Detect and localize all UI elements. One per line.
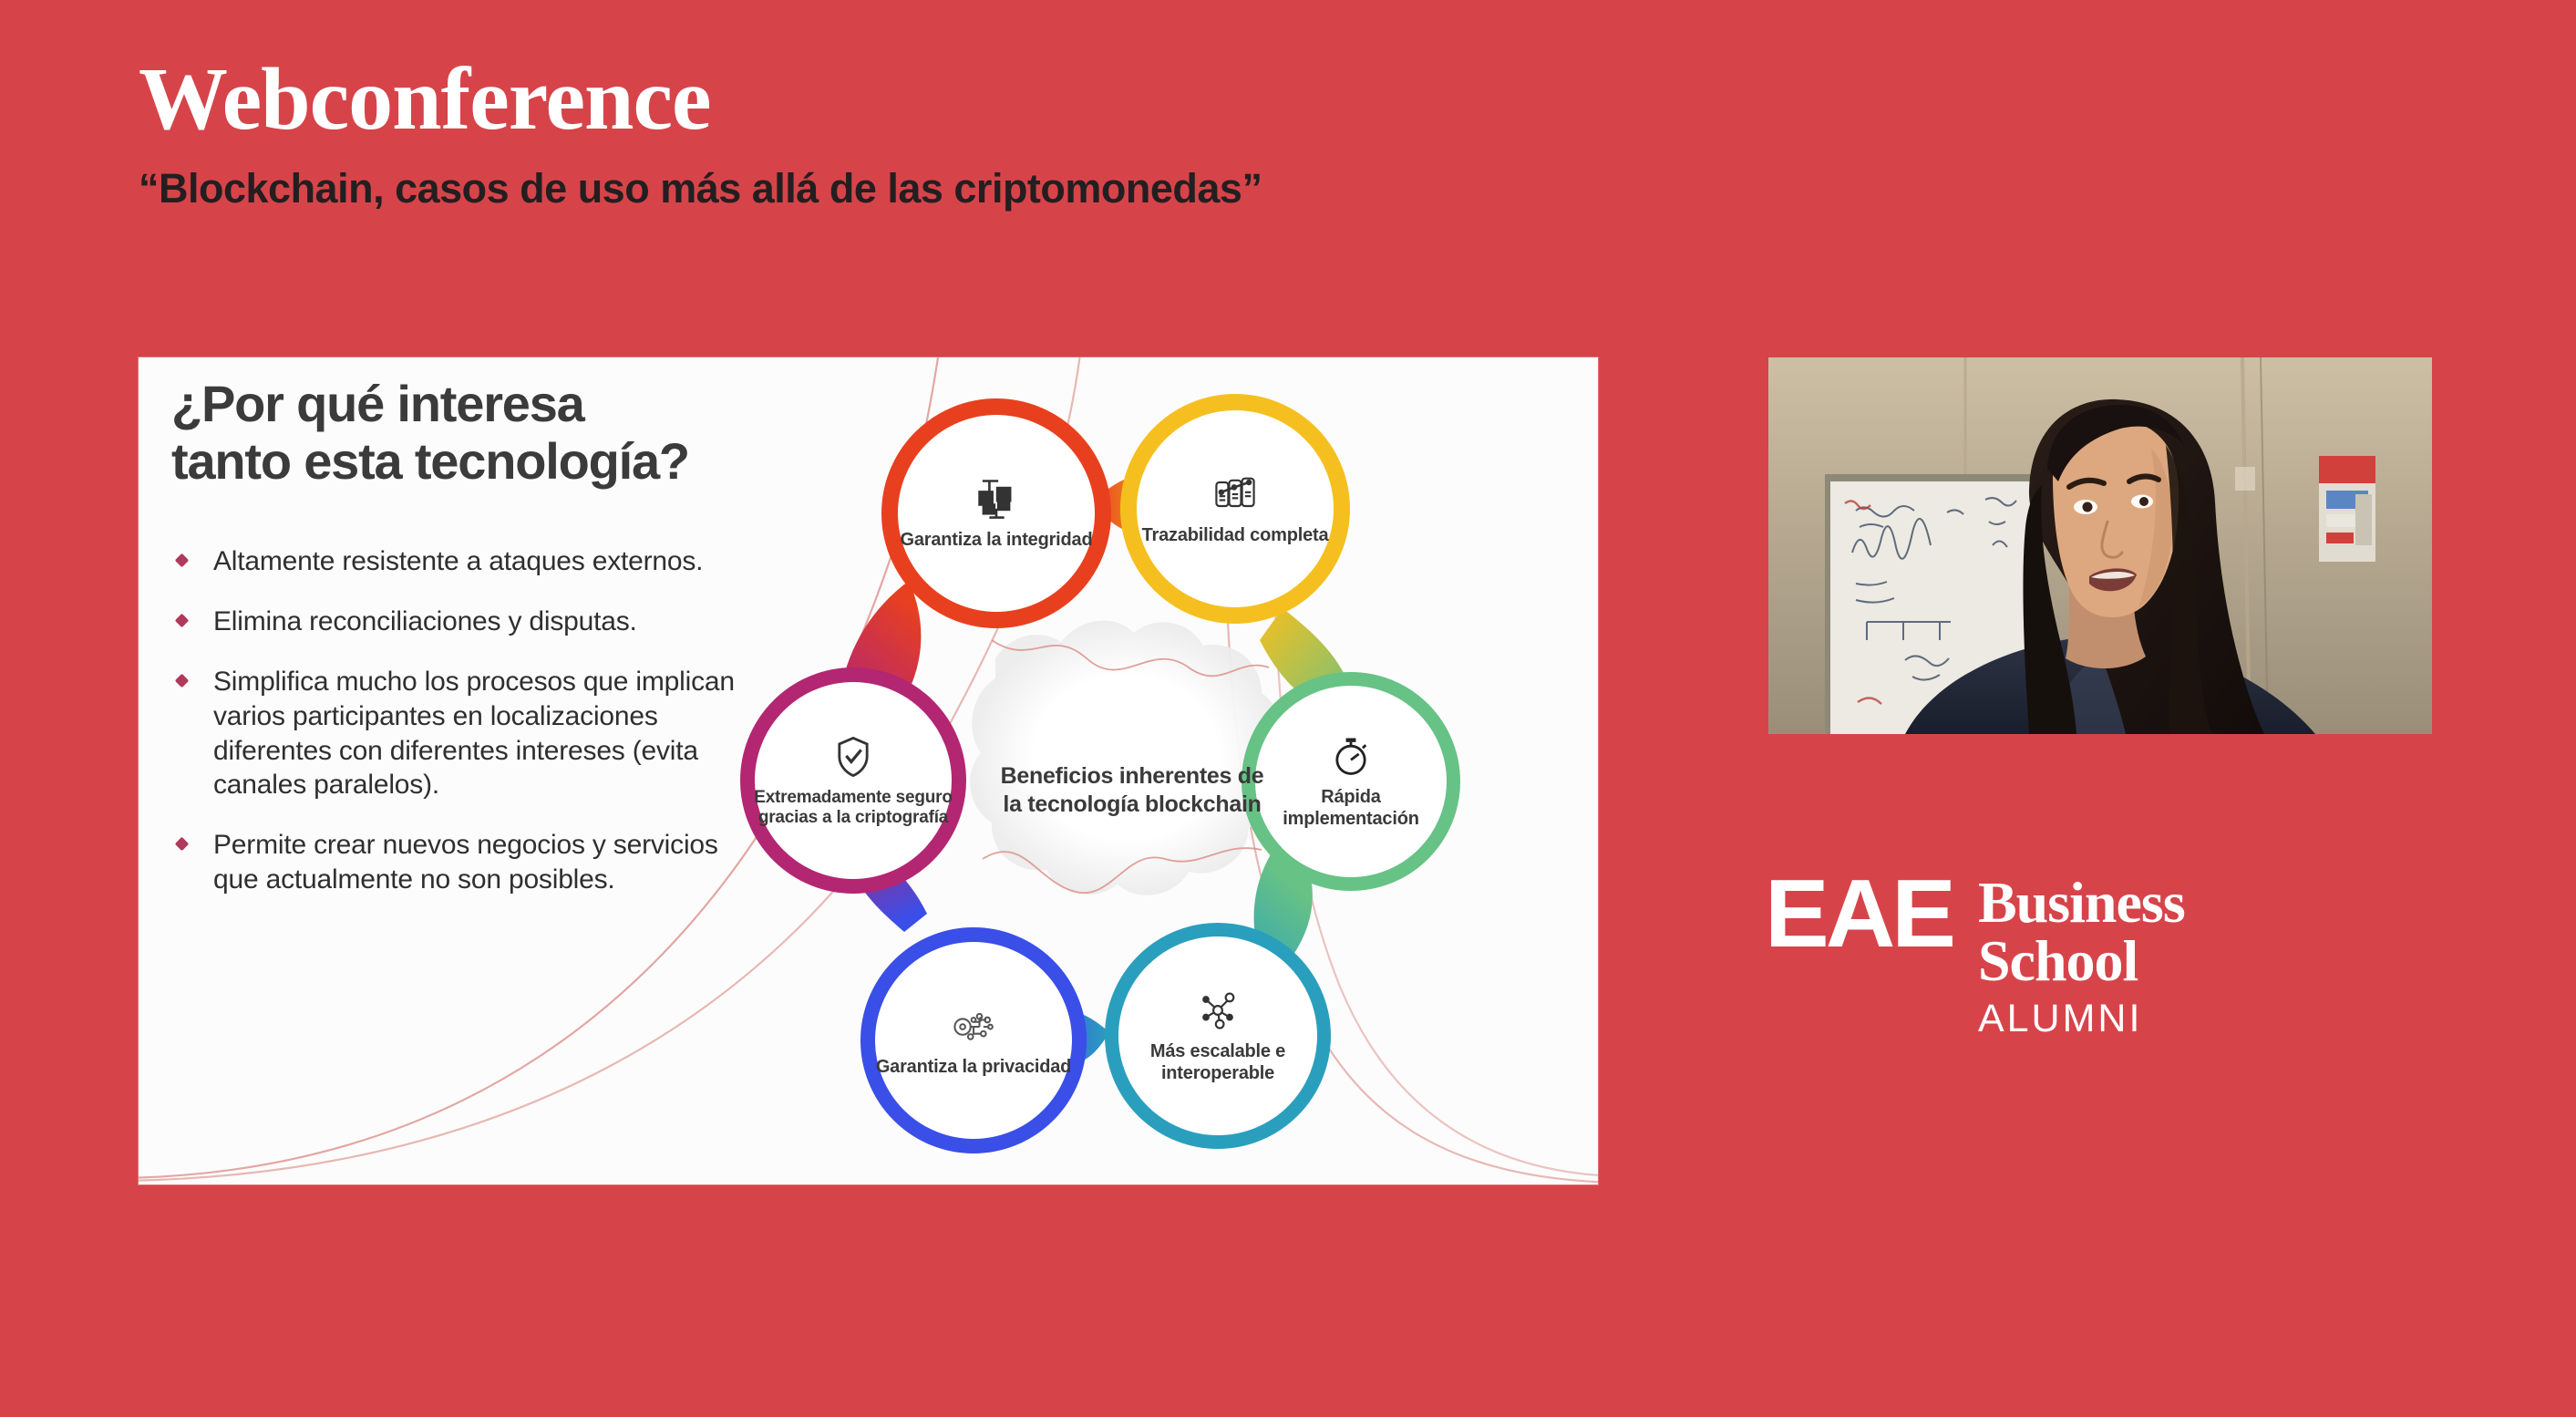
page-title: Webconference — [139, 55, 1688, 144]
eae-logo: EAE Business School ALUMNI — [1765, 868, 2185, 1039]
list-item: Elimina reconciliaciones y disputas. — [171, 605, 755, 639]
slide-bullet-list: Altamente resistente a ataques externos.… — [171, 544, 755, 896]
list-item: Altamente resistente a ataques externos. — [171, 544, 755, 579]
diagram-center-label: Beneficios inherentes de la tecnología b… — [995, 695, 1269, 886]
node-label: Garantiza la privacidad — [865, 1057, 1082, 1079]
diagram-node-rapida[interactable]: Rápida implementación — [1242, 672, 1460, 891]
diagram-node-privacidad[interactable]: Garantiza la privacidad — [860, 927, 1087, 1153]
center-label-text: Beneficios inherentes de la tecnología b… — [995, 762, 1269, 820]
slide-heading: ¿Por qué interesa tanto esta tecnología? — [171, 376, 755, 490]
eae-line-school: School — [1978, 932, 2185, 990]
node-label: Rápida implementación — [1242, 787, 1460, 830]
video-participant-tile[interactable] — [1768, 357, 2432, 734]
list-item-text: Altamente resistente a ataques externos. — [213, 546, 703, 576]
presentation-slide[interactable]: ¿Por qué interesa tanto esta tecnología?… — [139, 357, 1598, 1184]
eae-logo-text: Business School ALUMNI — [1978, 868, 2185, 1039]
list-item-text: Elimina reconciliaciones y disputas. — [213, 606, 637, 636]
documents-chart-icon — [1211, 471, 1259, 518]
video-frame — [1768, 357, 2432, 734]
benefits-circle-diagram: Garantiza la integridad — [722, 367, 1579, 1178]
slide-text-column: ¿Por qué interesa tanto esta tecnología?… — [171, 376, 755, 923]
list-item-text: Simplifica mucho los procesos que implic… — [213, 667, 735, 800]
diagram-node-integridad[interactable]: Garantiza la integridad — [881, 398, 1111, 628]
diagram-node-trazabilidad[interactable]: Trazabilidad completa — [1120, 394, 1350, 624]
eae-line-alumni: ALUMNI — [1978, 999, 2185, 1039]
node-content: Garantiza la integridad — [881, 398, 1111, 628]
node-content: Más escalable e interoperable — [1105, 923, 1331, 1149]
node-content: Rápida implementación — [1242, 672, 1460, 891]
list-item: Permite crear nuevos negocios y servicio… — [171, 828, 755, 897]
list-item-text: Permite crear nuevos negocios y servicio… — [213, 830, 718, 895]
bullet-diamond-icon — [175, 837, 190, 852]
blocks-cube-icon — [973, 475, 1020, 522]
list-item: Simplifica mucho los procesos que implic… — [171, 665, 755, 802]
header: Webconference “Blockchain, casos de uso … — [139, 55, 1688, 212]
stopwatch-icon — [1327, 732, 1375, 780]
bullet-diamond-icon — [175, 614, 190, 628]
slide-heading-line-2: tanto esta tecnología? — [171, 432, 689, 490]
eae-line-business: Business — [1978, 874, 2185, 932]
node-content: Trazabilidad completa — [1120, 394, 1350, 624]
bullet-diamond-icon — [175, 674, 190, 688]
node-label: Trazabilidad completa — [1131, 525, 1340, 547]
eae-wordmark: EAE — [1765, 868, 1953, 960]
node-label: Extremadamente seguro gracias a la cript… — [740, 788, 966, 829]
node-label: Más escalable e interoperable — [1105, 1041, 1331, 1084]
bullet-diamond-icon — [175, 553, 190, 568]
node-content: Extremadamente seguro gracias a la cript… — [740, 667, 966, 894]
diagram-node-escalable[interactable]: Más escalable e interoperable — [1105, 923, 1331, 1149]
page-subtitle: “Blockchain, casos de uso más allá de la… — [139, 166, 1688, 212]
network-nodes-icon — [1194, 987, 1242, 1034]
node-content: Garantiza la privacidad — [860, 927, 1087, 1153]
slide-heading-line-1: ¿Por qué interesa — [171, 375, 584, 432]
shield-check-icon — [829, 733, 877, 781]
diagram-node-criptografia[interactable]: Extremadamente seguro gracias a la cript… — [740, 667, 966, 894]
node-label: Garantiza la integridad — [889, 530, 1103, 552]
circuit-key-icon — [950, 1002, 997, 1050]
